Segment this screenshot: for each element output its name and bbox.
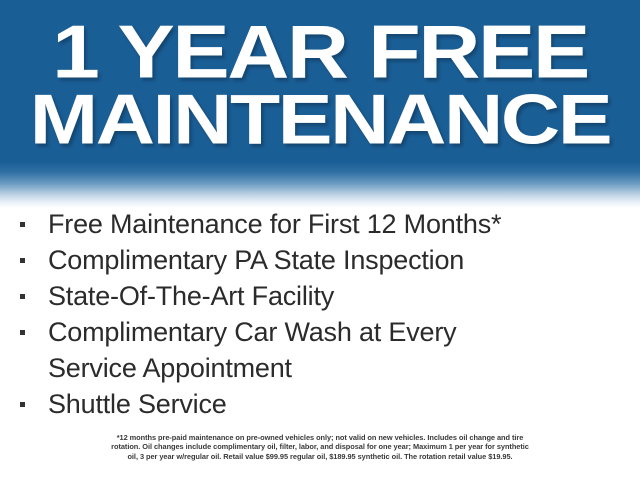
headline: 1 YEAR FREE MAINTENANCE [0, 0, 640, 152]
list-item-label: Complimentary PA State Inspection [48, 242, 640, 278]
square-bullet-icon [20, 294, 25, 299]
square-bullet-icon [20, 402, 25, 407]
disclaimer-line-1: *12 months pre-paid maintenance on pre-o… [0, 433, 640, 442]
list-item-continuation: Service Appointment [0, 350, 640, 386]
list-item-label-wrap: Service Appointment [48, 350, 640, 386]
list-item-label: Free Maintenance for First 12 Months* [48, 206, 640, 242]
list-item-label: Shuttle Service [48, 386, 640, 422]
list-item-label: Complimentary Car Wash at Every [48, 314, 640, 350]
disclaimer-line-3: oil, 3 per year w/regular oil. Retail va… [0, 452, 640, 461]
list-item: Free Maintenance for First 12 Months* [0, 206, 640, 242]
disclaimer-line-2: rotation. Oil changes include compliment… [0, 442, 640, 451]
list-item-label: State-Of-The-Art Facility [48, 278, 640, 314]
bullet-spacer [20, 366, 25, 371]
list-item: Complimentary PA State Inspection [0, 242, 640, 278]
square-bullet-icon [20, 258, 25, 263]
square-bullet-icon [20, 330, 25, 335]
square-bullet-icon [20, 222, 25, 227]
list-item: Shuttle Service [0, 386, 640, 422]
legal-disclaimer: *12 months pre-paid maintenance on pre-o… [0, 433, 640, 461]
headline-line-2: MAINTENANCE [0, 87, 640, 152]
promo-advertisement: 1 YEAR FREE MAINTENANCE Free Maintenance… [0, 0, 640, 480]
feature-list: Free Maintenance for First 12 Months* Co… [0, 206, 640, 422]
list-item: Complimentary Car Wash at Every [0, 314, 640, 350]
list-item: State-Of-The-Art Facility [0, 278, 640, 314]
headline-banner: 1 YEAR FREE MAINTENANCE [0, 0, 640, 208]
headline-line-1: 1 YEAR FREE [0, 17, 640, 86]
